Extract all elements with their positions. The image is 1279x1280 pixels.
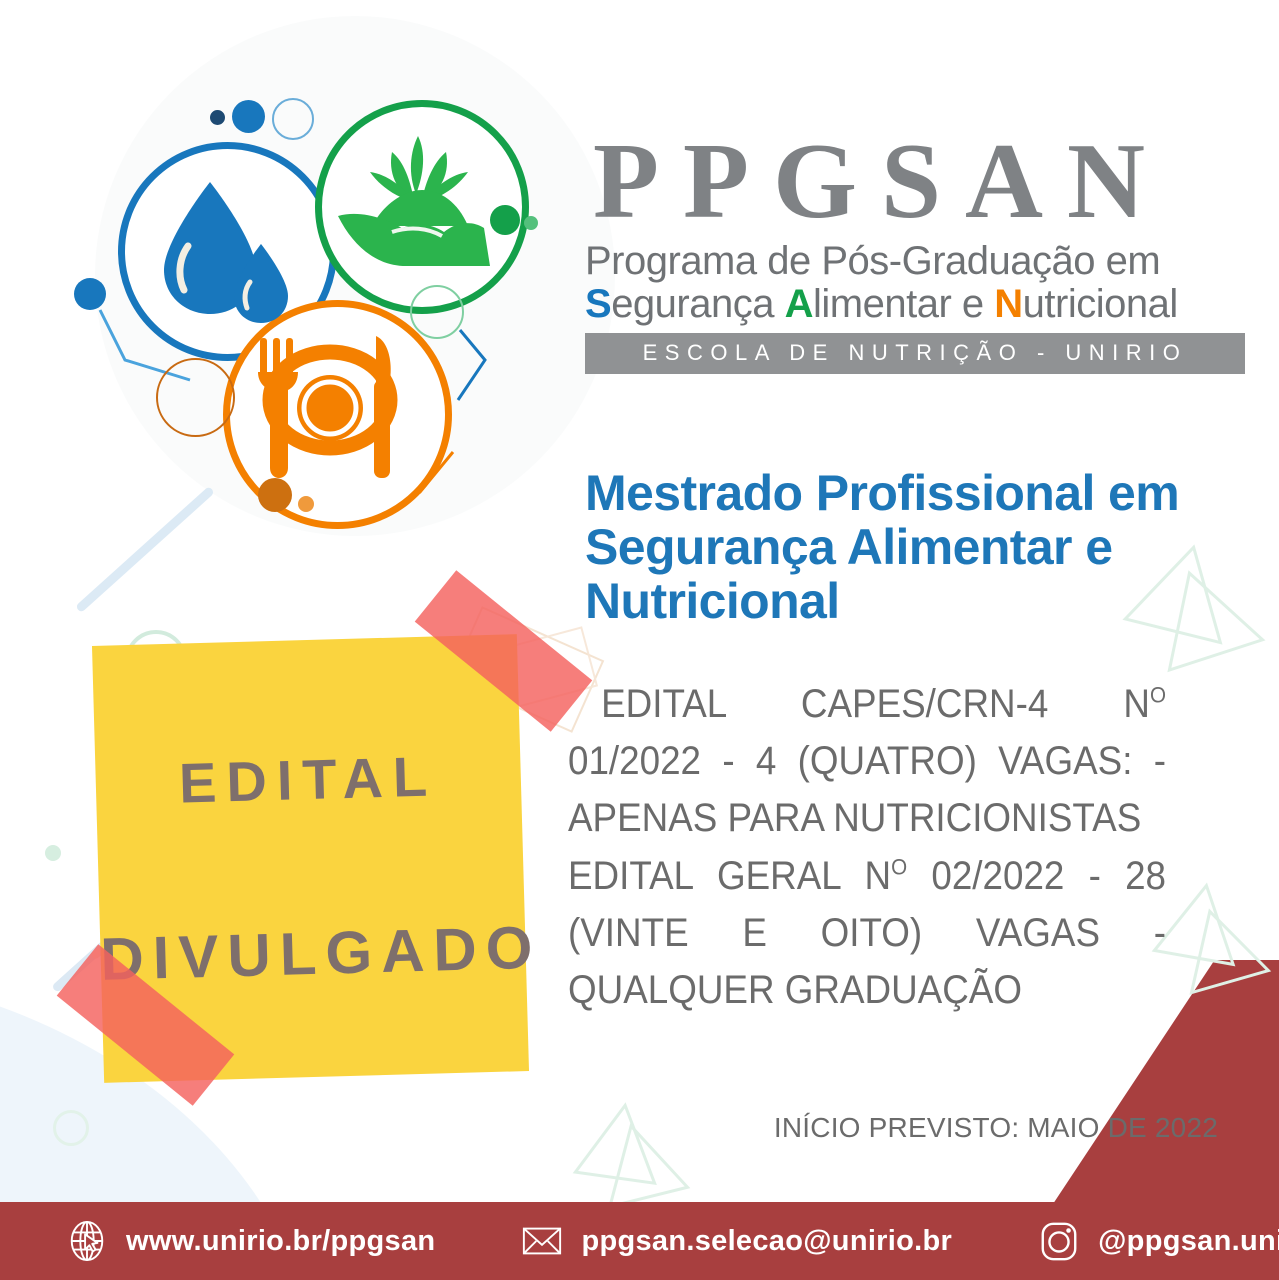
sticky-note-line1: EDITAL bbox=[178, 744, 438, 814]
water-drop-icon bbox=[148, 178, 298, 333]
footer-email[interactable]: ppgsan.selecao@unirio.br bbox=[521, 1220, 952, 1262]
logo-dot bbox=[298, 496, 314, 512]
logo-ring bbox=[156, 358, 235, 437]
school-band: ESCOLA DE NUTRIÇÃO - UNIRIO bbox=[585, 333, 1245, 374]
edital-details: EDITAL CAPES/CRN-4 NO 01/2022 - 4 (QUATR… bbox=[568, 676, 1218, 1019]
logo-ring bbox=[410, 285, 464, 339]
footer-email-text: ppgsan.selecao@unirio.br bbox=[581, 1225, 952, 1258]
logo-dot bbox=[524, 216, 538, 230]
background-small-green-ring-decoration bbox=[53, 1110, 89, 1146]
hand-plant-icon bbox=[332, 122, 502, 282]
instagram-icon bbox=[1038, 1220, 1080, 1262]
course-title: Mestrado Profissional em Segurança Alime… bbox=[585, 466, 1275, 628]
background-green-dot-decoration bbox=[45, 845, 61, 861]
logo-dot bbox=[258, 478, 292, 512]
footer-instagram-text: @ppgsan.unirio bbox=[1098, 1225, 1279, 1258]
logo-dot bbox=[232, 100, 265, 133]
sticky-note: EDITAL DIVULGADO bbox=[98, 640, 538, 1090]
sticky-note-line2: DIVULGADO bbox=[100, 918, 527, 990]
logo-dot bbox=[74, 278, 106, 310]
subtitle-a-letter: A bbox=[785, 282, 813, 326]
subtitle-s-letter: S bbox=[585, 282, 611, 326]
footer-website-text: www.unirio.br/ppgsan bbox=[126, 1225, 435, 1258]
logo-dot bbox=[490, 205, 520, 235]
subtitle-alimentar-text: limentar e bbox=[813, 282, 994, 326]
footer-instagram[interactable]: @ppgsan.unirio bbox=[1038, 1220, 1279, 1262]
brand-header: PPGSAN Programa de Pós-Graduação em Segu… bbox=[585, 128, 1255, 374]
ppgsan-logo bbox=[60, 60, 580, 560]
logo-ring bbox=[272, 98, 314, 140]
edital-geral-paragraph: EDITAL GERAL NO 02/2022 - 28 (VINTE E OI… bbox=[568, 848, 1166, 1018]
poster-canvas: PPGSAN Programa de Pós-Graduação em Segu… bbox=[0, 0, 1279, 1280]
edital-geral-lead: EDITAL GERAL N bbox=[568, 854, 891, 898]
subtitle-seguranca-text: egurança bbox=[611, 282, 784, 326]
footer-website[interactable]: www.unirio.br/ppgsan bbox=[66, 1220, 435, 1262]
edital-capes-lead: EDITAL CAPES/CRN-4 N bbox=[601, 682, 1150, 726]
edital-capes-rest: 01/2022 - 4 (QUATRO) VAGAS: - APENAS PAR… bbox=[568, 739, 1166, 840]
brand-acronym: PPGSAN bbox=[593, 128, 1255, 236]
brand-subtitle-line1: Programa de Pós-Graduação em bbox=[585, 240, 1255, 283]
globe-icon bbox=[66, 1220, 108, 1262]
brand-subtitle-line2: Segurança Alimentar e Nutricional bbox=[585, 283, 1255, 326]
subtitle-n-letter: N bbox=[994, 282, 1022, 326]
edital-geral-ordinal: O bbox=[891, 855, 907, 880]
plate-cutlery-icon bbox=[248, 328, 413, 488]
sticky-note-text: EDITAL DIVULGADO bbox=[95, 746, 526, 990]
contact-footer: www.unirio.br/ppgsan ppgsan.selecao@unir… bbox=[0, 1202, 1279, 1280]
start-date-note: INÍCIO PREVISTO: MAIO DE 2022 bbox=[568, 1112, 1218, 1144]
logo-dot bbox=[210, 110, 225, 125]
subtitle-nutricional-text: utricional bbox=[1023, 282, 1178, 326]
envelope-icon bbox=[521, 1220, 563, 1262]
edital-capes-paragraph: EDITAL CAPES/CRN-4 NO 01/2022 - 4 (QUATR… bbox=[568, 676, 1166, 846]
edital-capes-ordinal: O bbox=[1150, 683, 1166, 708]
